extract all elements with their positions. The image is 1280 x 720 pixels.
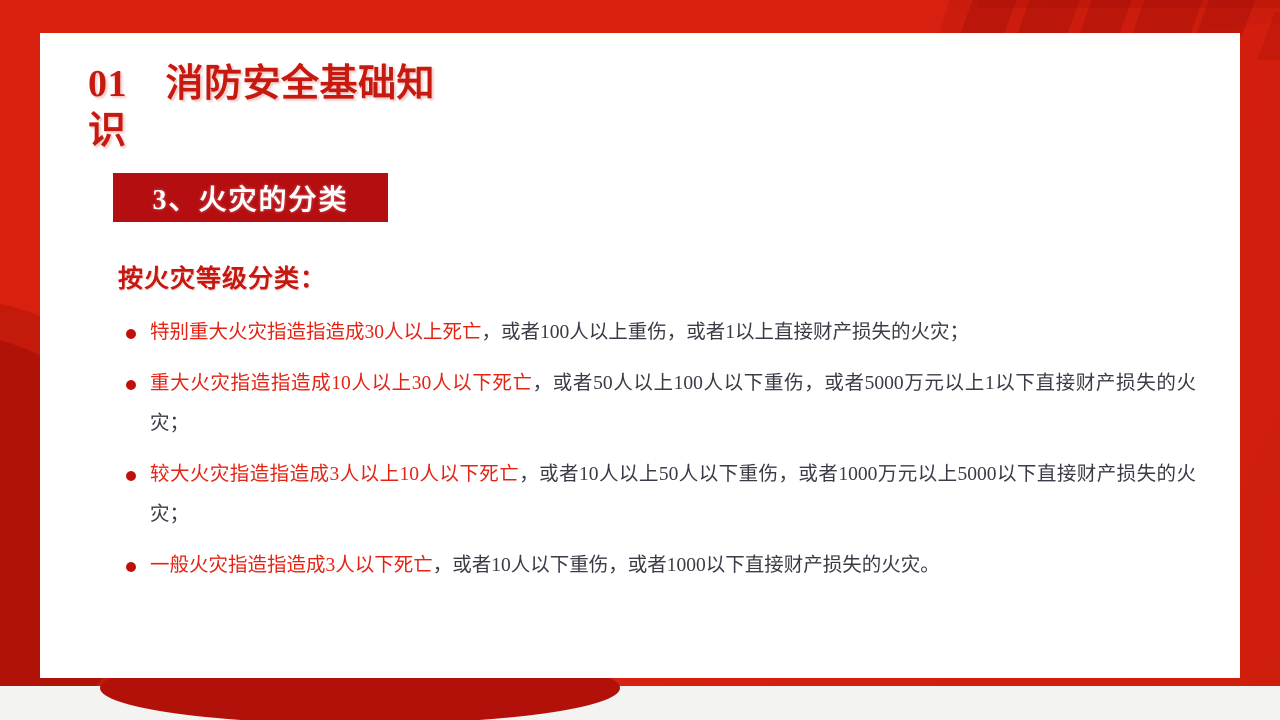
section-heading: 按火灾等级分类： [118,259,326,295]
list-item: 一般火灾指造指造成3人以下死亡，或者10人以下重伤，或者1000以下直接财产损失… [118,546,1196,586]
list-item: 特别重大火灾指造指造成30人以上死亡，或者100人以上重伤，或者1以上直接财产损… [118,313,1196,353]
bullet-dot-icon [126,562,136,572]
bullet-list: 特别重大火灾指造指造成30人以上死亡，或者100人以上重伤，或者1以上直接财产损… [118,313,1196,597]
bullet-dot-icon [126,329,136,339]
bullet-dot-icon [126,471,136,481]
page-title-line2: 识 [88,110,127,152]
page-title: 01 消防安全基础知识 [88,61,558,155]
content-card: 01 消防安全基础知识 3、火灾的分类 按火灾等级分类： 特别重大火灾指造指造成… [40,33,1240,678]
list-item-highlight: 重大火灾指造指造成10人以上30人以下死亡 [150,373,533,394]
list-item-highlight: 较大火灾指造指造成3人以上10人以下死亡 [150,464,519,485]
list-item-text: ，或者100人以上重伤，或者1以上直接财产损失的火灾； [482,322,970,343]
bullet-dot-icon [126,380,136,390]
section-badge-label: 3、火灾的分类 [152,178,348,218]
list-item: 重大火灾指造指造成10人以上30人以下死亡，或者50人以上100人以下重伤，或者… [118,364,1196,444]
page-title-line1: 01 消防安全基础知 [88,63,435,105]
list-item-highlight: 特别重大火灾指造指造成30人以上死亡 [150,322,482,343]
list-item-text: ，或者10人以下重伤，或者1000以下直接财产损失的火灾。 [433,555,940,576]
list-item: 较大火灾指造指造成3人以上10人以下死亡，或者10人以上50人以下重伤，或者10… [118,455,1196,535]
list-item-highlight: 一般火灾指造指造成3人以下死亡 [150,555,433,576]
section-badge: 3、火灾的分类 [113,173,388,222]
presentation-slide: 01 消防安全基础知识 3、火灾的分类 按火灾等级分类： 特别重大火灾指造指造成… [0,0,1280,720]
